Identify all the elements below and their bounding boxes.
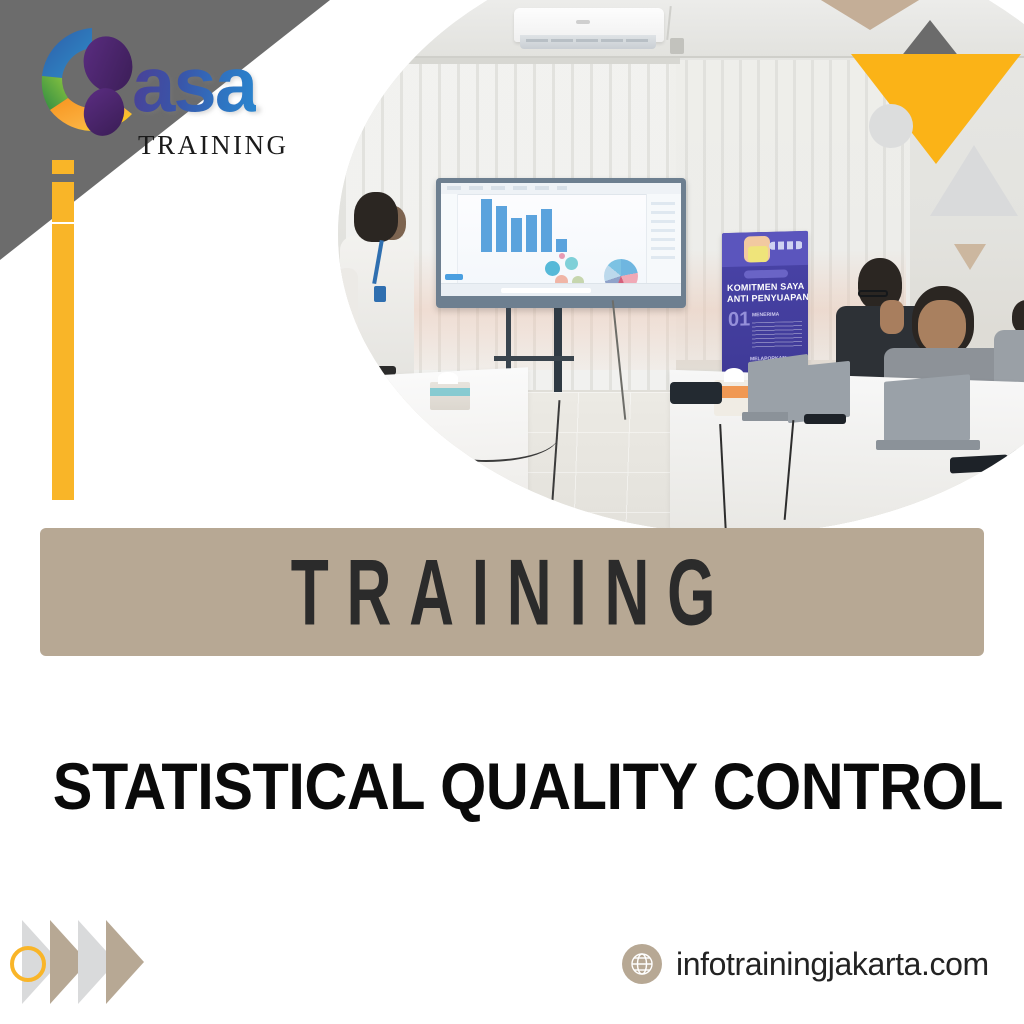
smartphone <box>804 414 846 424</box>
website-url: infotrainingjakarta.com <box>676 946 989 983</box>
dashboard-taskbar <box>441 283 681 296</box>
dashboard-tag <box>445 274 463 280</box>
brand-logo[interactable]: asa asa TRAINING <box>28 18 338 158</box>
dashboard-bubble <box>559 253 565 259</box>
globe-icon <box>622 944 662 984</box>
training-banner: TRAINING <box>40 528 984 656</box>
presenter-badge <box>374 286 386 302</box>
rollup-banner-lines <box>752 321 802 348</box>
air-conditioner-badge <box>576 20 590 24</box>
participant-glasses <box>858 290 888 297</box>
dashboard-bar <box>481 199 492 252</box>
dashboard-bar <box>496 206 507 252</box>
display-stand-shelf <box>494 356 574 361</box>
yellow-ring-icon <box>10 946 46 982</box>
tissue-box <box>430 382 470 410</box>
presenter-arm <box>336 268 358 372</box>
page-title: STATISTICAL QUALITY CONTROL <box>0 748 1024 824</box>
page-title-text: STATISTICAL QUALITY CONTROL <box>53 748 1003 824</box>
rollup-banner-headline-2: ANTI PENYUAPAN <box>727 292 808 305</box>
tan-small-triangle-down-icon <box>954 244 986 270</box>
laptop-base <box>876 440 980 450</box>
rollup-banner-number-1: 01 <box>728 308 750 332</box>
dashboard-bar <box>556 239 567 252</box>
air-conditioner-vent <box>520 35 656 49</box>
participant-hand <box>880 300 904 334</box>
bag <box>670 382 722 404</box>
dashboard-bar <box>541 209 552 252</box>
tissue-box-band <box>430 388 470 396</box>
smartphone <box>950 454 1008 473</box>
dashboard-bar <box>511 218 522 252</box>
dashboard-left-panel <box>441 194 458 284</box>
poster-canvas: KOMITMEN SAYA ANTI PENYUAPAN 01 MENERIMA… <box>0 0 1024 1024</box>
rollup-banner-pill <box>744 269 788 278</box>
website-link[interactable]: infotrainingjakarta.com <box>622 944 989 984</box>
presenter-head <box>354 192 398 242</box>
dashboard-toolbar <box>441 183 681 195</box>
dashboard-right-panel <box>646 194 681 284</box>
chevron-4-icon <box>106 920 144 1004</box>
tissue-sheet <box>724 368 744 382</box>
logo-wordmark: asa <box>132 50 256 119</box>
rollup-banner-sub-1: MENERIMA <box>752 312 779 319</box>
rollup-banner-dots <box>769 241 803 250</box>
light-grey-triangle-up-icon <box>930 145 1018 216</box>
dashboard-bubble <box>545 261 560 276</box>
laptop <box>884 374 970 448</box>
grey-circle-icon <box>869 104 913 148</box>
yellow-dash-4 <box>52 288 74 500</box>
blinds-rail <box>344 58 680 64</box>
training-banner-label: TRAINING <box>291 538 734 647</box>
dashboard-bar <box>526 215 537 252</box>
rollup-banner-illustration <box>744 236 770 263</box>
yellow-dash-2 <box>52 182 74 222</box>
logo-subtitle: TRAINING <box>138 130 288 161</box>
display-screen <box>441 183 681 296</box>
participant-face <box>918 300 966 354</box>
yellow-dash-1 <box>52 160 74 174</box>
dashboard-bubble <box>565 257 578 270</box>
wall-socket <box>670 38 684 54</box>
